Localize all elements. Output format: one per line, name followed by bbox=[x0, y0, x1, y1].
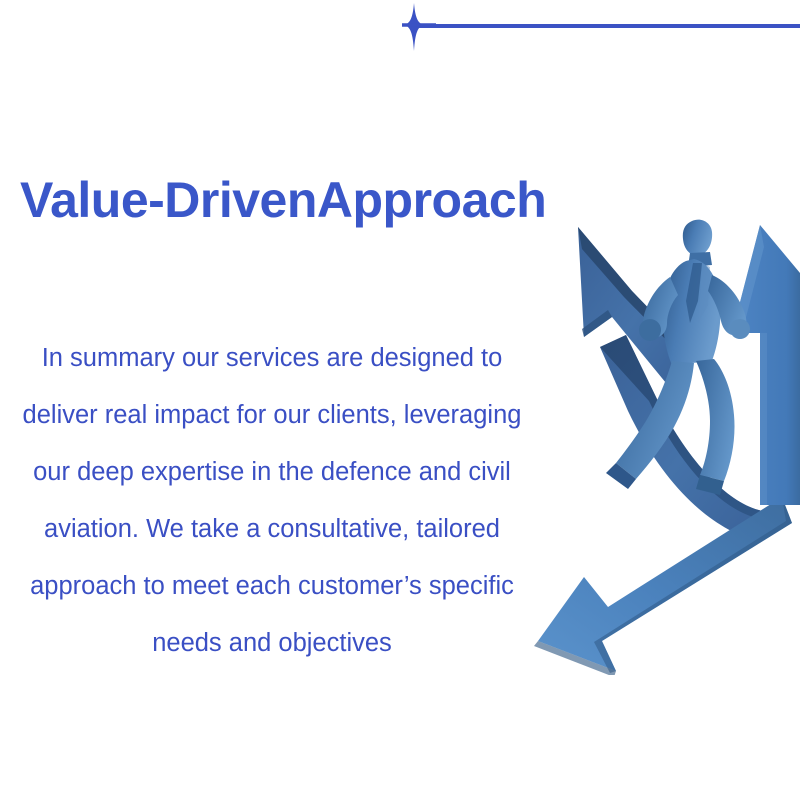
body-line: approach to meet each customer’s specifi… bbox=[8, 558, 536, 615]
slide-canvas: Value-DrivenApproach In summary our serv… bbox=[0, 0, 800, 800]
arrow-down-left-icon bbox=[534, 497, 792, 675]
accent-rule bbox=[412, 24, 800, 28]
four-point-star-icon bbox=[392, 3, 436, 51]
growth-arrows-illustration bbox=[520, 205, 800, 675]
body-line: our deep expertise in the defence and ci… bbox=[8, 444, 536, 501]
body-paragraph: In summary our services are designed to … bbox=[8, 330, 536, 672]
arrow-up-icon bbox=[732, 225, 800, 505]
page-title: Value-DrivenApproach bbox=[20, 170, 550, 230]
body-line: aviation. We take a consultative, tailor… bbox=[8, 501, 536, 558]
body-line: In summary our services are designed to bbox=[8, 330, 536, 387]
body-line: deliver real impact for our clients, lev… bbox=[8, 387, 536, 444]
body-line: needs and objectives bbox=[8, 615, 536, 672]
